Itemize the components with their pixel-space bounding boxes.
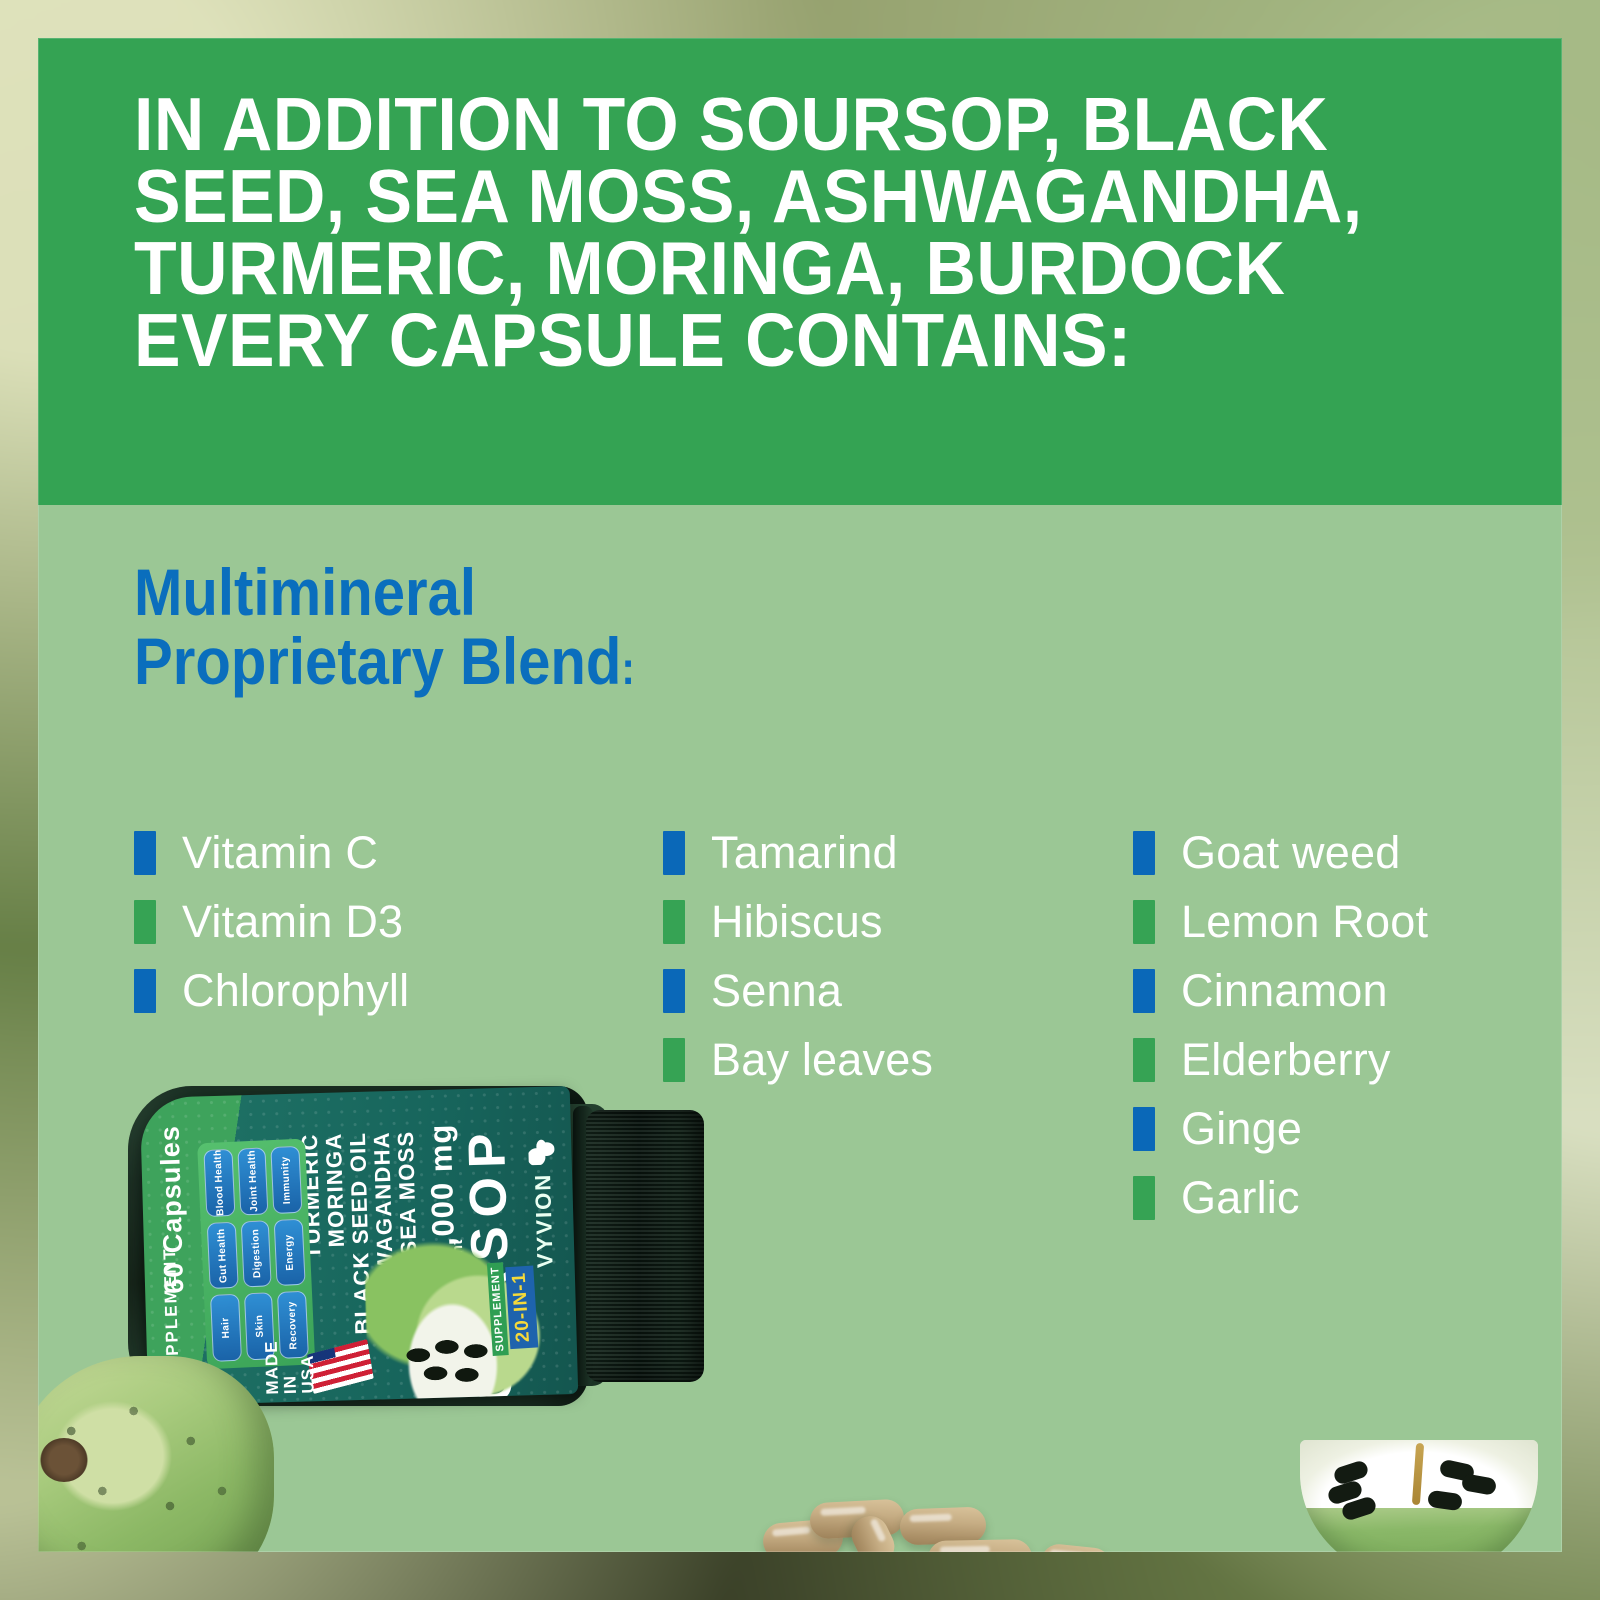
bullet-marker-icon <box>134 900 156 944</box>
leaf-icon <box>528 1139 555 1166</box>
combo-badge: SUPPLEMENT 20-IN-1 <box>487 1257 578 1356</box>
list-item: Cinnamon <box>1133 956 1562 1025</box>
badge-column: Joint Health Digestion Skin <box>237 1147 275 1360</box>
list-item: Chlorophyll <box>134 956 614 1025</box>
bullet-marker-icon <box>663 969 685 1013</box>
bullet-marker-icon <box>1133 1038 1155 1082</box>
fruit-stem <box>40 1438 88 1482</box>
ingredient-label: Elderberry <box>1181 1034 1391 1086</box>
bullet-marker-icon <box>1133 969 1155 1013</box>
list-item: Senna <box>663 956 1123 1025</box>
combo-badge-main: 20-IN-1 <box>505 1265 538 1349</box>
bullet-marker-icon <box>1133 1107 1155 1151</box>
benefit-badge-label: Immunity <box>280 1156 293 1204</box>
capsule <box>1039 1542 1112 1552</box>
badge-column: Blood Health Gut Health Hair <box>203 1149 241 1362</box>
list-item: Hibiscus <box>663 887 1123 956</box>
benefit-badge-label: Joint Health <box>246 1150 260 1212</box>
ingredient-label: Cinnamon <box>1181 965 1388 1017</box>
bullet-marker-icon <box>663 900 685 944</box>
list-item: Elderberry <box>1133 1025 1562 1094</box>
ingredient-column-3: Goat weed Lemon Root Cinnamon Elderberry… <box>1133 818 1562 1232</box>
blend-title-line2: Proprietary Blend <box>134 624 621 698</box>
headline-text: IN ADDITION TO SOURSOP, BLACK SEED, SEA … <box>134 88 1380 376</box>
benefit-badge-label: Hair <box>220 1317 232 1339</box>
list-item: Ginge <box>1133 1094 1562 1163</box>
benefit-badge: Joint Health <box>237 1147 269 1215</box>
soursop-fruit-half <box>1300 1440 1538 1552</box>
ingredient-label: Vitamin C <box>182 827 378 879</box>
blend-title-colon: : <box>621 642 634 694</box>
bottle-label: 60 Capsules DIETARY SUPPLEMENT VYVION SO… <box>140 1086 578 1406</box>
list-item: Vitamin C <box>134 818 614 887</box>
benefit-badge: Energy <box>274 1218 306 1286</box>
made-in-usa-badge: MADE IN USA <box>258 1332 378 1397</box>
benefit-badge: Digestion <box>240 1220 272 1288</box>
blend-title-line1: Multimineral <box>134 555 476 629</box>
ingredient-label: Hibiscus <box>711 896 883 948</box>
ingredient-label: Garlic <box>1181 1172 1300 1224</box>
benefit-badge: Gut Health <box>207 1221 239 1289</box>
benefit-badge-label: Gut Health <box>216 1228 229 1283</box>
benefit-badge: Immunity <box>271 1146 303 1214</box>
ingredient-label: Tamarind <box>711 827 898 879</box>
list-item: Vitamin D3 <box>134 887 614 956</box>
ingredient-label: Goat weed <box>1181 827 1400 879</box>
ingredient-label: Chlorophyll <box>182 965 409 1017</box>
bottle-cap <box>586 1110 704 1382</box>
capsule <box>928 1539 1033 1552</box>
list-item: Lemon Root <box>1133 887 1562 956</box>
origin-text: MADE IN USA <box>262 1333 317 1394</box>
benefit-badge-label: Blood Health <box>212 1149 226 1216</box>
ingredient-label: Senna <box>711 965 842 1017</box>
benefit-badge-label: Digestion <box>250 1229 263 1279</box>
ingredient-column-2: Tamarind Hibiscus Senna Bay leaves <box>663 818 1123 1094</box>
bullet-marker-icon <box>663 831 685 875</box>
infographic-card: IN ADDITION TO SOURSOP, BLACK SEED, SEA … <box>38 38 1562 1552</box>
bullet-marker-icon <box>134 969 156 1013</box>
benefit-badge-label: Energy <box>283 1234 296 1271</box>
badge-column: Immunity Energy Recovery <box>271 1146 309 1359</box>
ingredient-label: Ginge <box>1181 1103 1302 1155</box>
ingredient-label: Lemon Root <box>1181 896 1428 948</box>
list-item: Tamarind <box>663 818 1123 887</box>
benefit-badge: Hair <box>210 1294 242 1362</box>
list-item: Garlic <box>1133 1163 1562 1232</box>
ingredient-label: Vitamin D3 <box>182 896 403 948</box>
list-item: Goat weed <box>1133 818 1562 887</box>
bullet-marker-icon <box>1133 831 1155 875</box>
bullet-marker-icon <box>134 831 156 875</box>
bullet-marker-icon <box>1133 1176 1155 1220</box>
benefit-badge: Blood Health <box>203 1149 235 1217</box>
ingredient-column-1: Vitamin C Vitamin D3 Chlorophyll <box>134 818 614 1025</box>
bullet-marker-icon <box>1133 900 1155 944</box>
blend-title: Multimineral Proprietary Blend: <box>134 558 926 697</box>
